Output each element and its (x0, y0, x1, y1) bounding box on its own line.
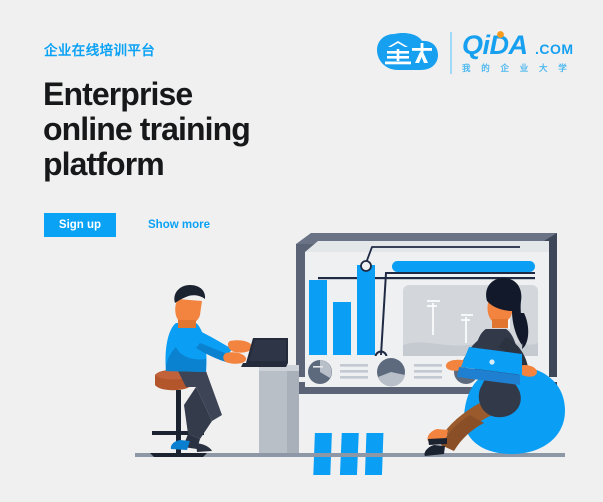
page-subtitle: 企业在线培训平台 (44, 39, 155, 59)
cloud-logo-icon (374, 30, 440, 74)
page-title-line-2: online training (43, 112, 343, 147)
page-title-line-3: platform (43, 147, 343, 182)
text-lines-1 (340, 364, 368, 379)
svg-text:QiDA: QiDA (462, 30, 528, 60)
svg-text:.COM: .COM (535, 41, 574, 57)
pie-chart-2 (377, 358, 405, 386)
pie-chart-1 (308, 360, 332, 384)
online-training-illustration (0, 225, 603, 475)
bar-1 (309, 280, 327, 355)
page-title: Enterprise online training platform (43, 77, 343, 182)
page-title-line-1: Enterprise (43, 77, 343, 112)
text-lines-2 (414, 364, 442, 379)
qida-logo[interactable]: QiDA .COM 我 的 企 业 大 学 (374, 28, 574, 80)
promo-banner: QiDA .COM 我 的 企 业 大 学 企业在线培训平台 Enterpris… (0, 0, 603, 502)
podium (259, 365, 299, 455)
logo-divider (450, 32, 452, 74)
logo-wordmark: QiDA .COM (462, 28, 574, 62)
bar-2 (333, 302, 351, 355)
bar-3 (357, 265, 375, 355)
logo-tagline: 我 的 企 业 大 学 (462, 62, 571, 74)
